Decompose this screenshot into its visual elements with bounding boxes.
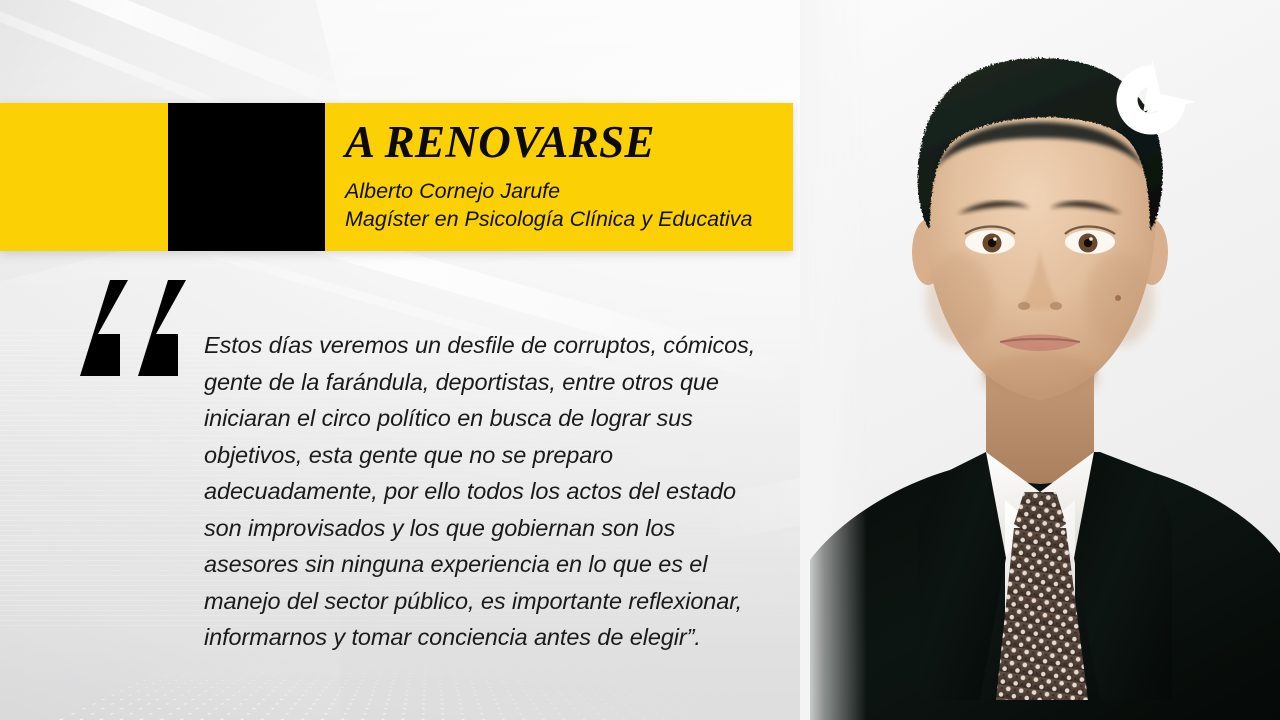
quote-line: adecuadamente, por ello todos los actos … [204,473,804,510]
quote-line: manejo del sector público, es importante… [204,583,804,620]
portrait-photo [800,0,1280,720]
banner-author-name: Alberto Cornejo Jarufe [345,177,793,205]
circular-arrow-logo-icon [1103,52,1199,148]
open-quote-glyph [62,272,202,392]
quote-text: Estos días veremos un desfile de corrupt… [204,327,804,656]
quote-line: informarnos y tomar conciencia antes de … [204,619,804,656]
banner-author-credential: Magíster en Psicología Clínica y Educati… [345,205,793,233]
quote-line: iniciaran el circo político en busca de … [204,400,804,437]
quote-line: gente de la farándula, deportistas, entr… [204,364,804,401]
banner-text-group: A RENOVARSE Alberto Cornejo Jarufe Magís… [345,103,793,251]
header-banner: A RENOVARSE Alberto Cornejo Jarufe Magís… [0,103,793,251]
quote-line: son improvisados y los que gobiernan son… [204,510,804,547]
quote-line: Estos días veremos un desfile de corrupt… [204,327,804,364]
circular-arrow-logo [1103,52,1199,148]
portrait-photo-illustration [800,0,1280,720]
quote-line: asesores sin ninguna experiencia en lo q… [204,546,804,583]
quote-line: objetivos, esta gente que no se preparo [204,437,804,474]
open-quote-icon [62,272,202,392]
banner-black-block [168,103,325,251]
banner-title: A RENOVARSE [345,120,793,165]
graphic-card: A RENOVARSE Alberto Cornejo Jarufe Magís… [0,0,1280,720]
